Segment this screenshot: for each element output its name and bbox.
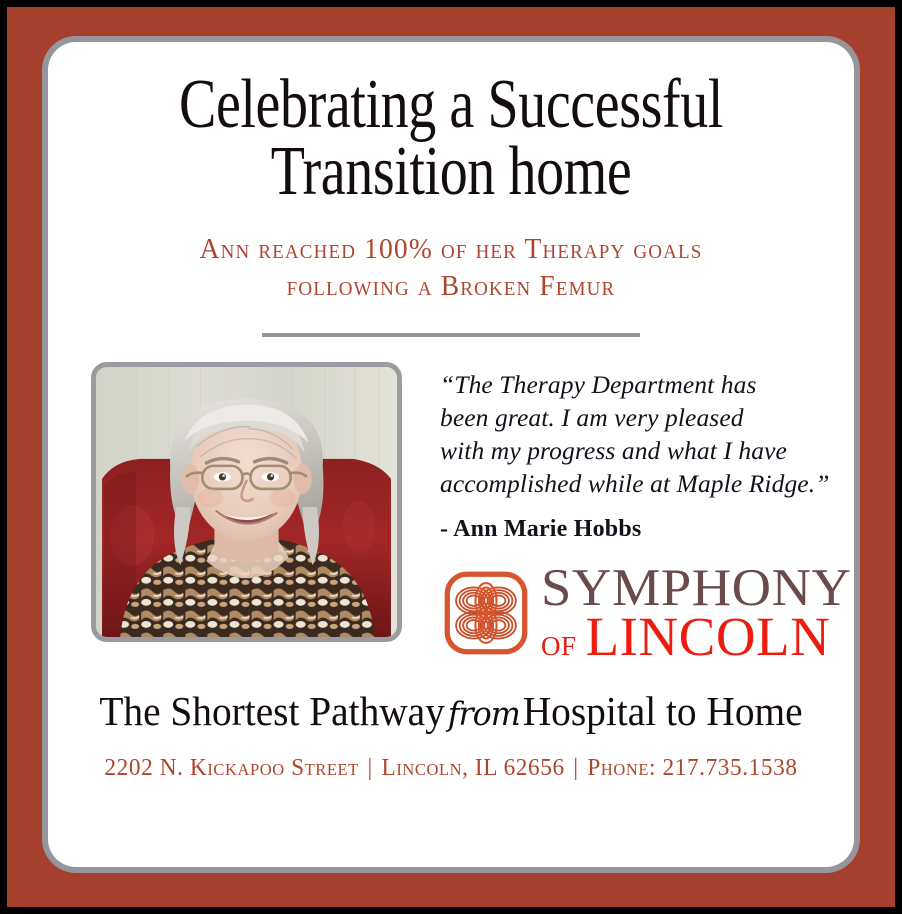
tagline-before: The Shortest Pathway	[99, 688, 444, 734]
logo-wordmark: SYMPHONY OF LINCOLN	[541, 565, 842, 661]
page-title-line-2: Transition home	[129, 138, 774, 205]
quote-line-4: accomplished while at Maple Ridge.”	[440, 467, 842, 500]
resident-photo-illustration	[96, 367, 397, 637]
main-content-row: “The Therapy Department has been great. …	[48, 362, 854, 662]
page-title: Celebrating a Successful Transition home	[129, 42, 774, 205]
quote-line-3: with my progress and what I have	[440, 434, 842, 467]
resident-photo-frame	[91, 362, 402, 642]
page-title-line-1: Celebrating a Successful	[179, 66, 723, 143]
logo-lincoln-text: LINCOLN	[586, 613, 831, 661]
address-separator-1: |	[359, 755, 382, 781]
testimonial-column: “The Therapy Department has been great. …	[402, 362, 842, 662]
symphony-of-lincoln-logo: SYMPHONY OF LINCOLN	[442, 565, 842, 661]
logo-second-line: OF LINCOLN	[541, 613, 842, 661]
poster-outer-frame: Celebrating a Successful Transition home…	[0, 0, 902, 914]
divider-container	[48, 333, 854, 337]
address-separator-2: |	[565, 755, 588, 781]
symphony-quatrefoil-mark-icon	[442, 569, 530, 657]
logo-of-text: OF	[541, 635, 577, 659]
address-street: 2202 N. Kickapoo Street	[104, 755, 358, 781]
address-city-state-zip: Lincoln, IL 62656	[382, 755, 565, 781]
logo-symphony-text: SYMPHONY	[541, 565, 851, 612]
page-subtitle-line-1: Ann reached 100% of her Therapy goals	[68, 231, 834, 268]
resident-photo	[96, 367, 397, 637]
horizontal-divider	[262, 333, 640, 337]
page-subtitle: Ann reached 100% of her Therapy goals fo…	[68, 231, 834, 305]
poster-card: Celebrating a Successful Transition home…	[48, 42, 854, 867]
page-subtitle-line-2: following a Broken Femur	[68, 268, 834, 305]
tagline-after: Hospital to Home	[523, 688, 803, 734]
quote-line-2: been great. I am very pleased	[440, 401, 842, 434]
testimonial-quote: “The Therapy Department has been great. …	[440, 368, 842, 501]
address-phone: Phone: 217.735.1538	[587, 755, 797, 781]
contact-address-line: 2202 N. Kickapoo Street|Lincoln, IL 6265…	[60, 755, 842, 782]
company-tagline: The Shortest PathwayfromHospital to Home	[64, 687, 838, 735]
quote-attribution: - Ann Marie Hobbs	[440, 516, 842, 543]
poster-red-border-band: Celebrating a Successful Transition home…	[7, 7, 895, 907]
tagline-script-word: from	[445, 694, 523, 733]
quote-line-1: “The Therapy Department has	[440, 368, 842, 401]
